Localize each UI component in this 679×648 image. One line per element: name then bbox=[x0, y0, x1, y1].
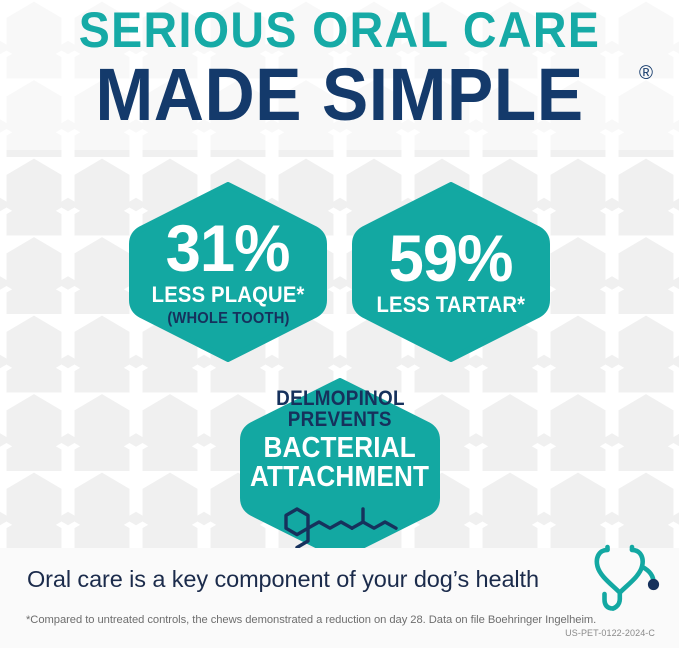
stat-badge-plaque: 31% LESS PLAQUE* (WHOLE TOOTH) bbox=[129, 182, 327, 362]
delmopinol-line-4: ATTACHMENT bbox=[250, 463, 429, 492]
delmopinol-line-2: PREVENTS bbox=[288, 409, 392, 430]
page-title: SERIOUS ORAL CARE MADE SIMPLE ® bbox=[0, 0, 679, 135]
stat-label: LESS TARTAR* bbox=[377, 293, 526, 317]
delmopinol-line-1: DELMOPINOL bbox=[276, 388, 405, 409]
stat-value: 31% bbox=[166, 217, 290, 279]
chemical-structure-icon bbox=[277, 501, 403, 551]
headline-line-2: MADE SIMPLE bbox=[20, 55, 658, 135]
footnote-text: *Compared to untreated controls, the che… bbox=[26, 613, 596, 627]
footer-tagline: Oral care is a key component of your dog… bbox=[27, 565, 539, 593]
stethoscope-chestpiece-icon bbox=[648, 579, 659, 590]
stat-badge-tartar: 59% LESS TARTAR* bbox=[352, 182, 550, 362]
headline-line-2-wrapper: MADE SIMPLE ® bbox=[0, 55, 679, 135]
footer-band: Oral care is a key component of your dog… bbox=[0, 548, 679, 648]
headline-line-1: SERIOUS ORAL CARE bbox=[24, 0, 655, 57]
stat-value: 59% bbox=[389, 227, 513, 289]
stat-badge-delmopinol: DELMOPINOL PREVENTS BACTERIAL ATTACHMENT bbox=[240, 378, 440, 560]
heart-stethoscope-icon bbox=[594, 544, 668, 612]
delmopinol-line-3: BACTERIAL bbox=[264, 434, 416, 463]
registered-trademark-icon: ® bbox=[639, 64, 653, 83]
infographic-page: SERIOUS ORAL CARE MADE SIMPLE ® 31% LESS… bbox=[0, 0, 679, 648]
stat-sublabel: (WHOLE TOOTH) bbox=[167, 310, 289, 328]
stat-label: LESS PLAQUE* bbox=[152, 283, 305, 307]
legal-code: US-PET-0122-2024-C bbox=[565, 628, 655, 639]
